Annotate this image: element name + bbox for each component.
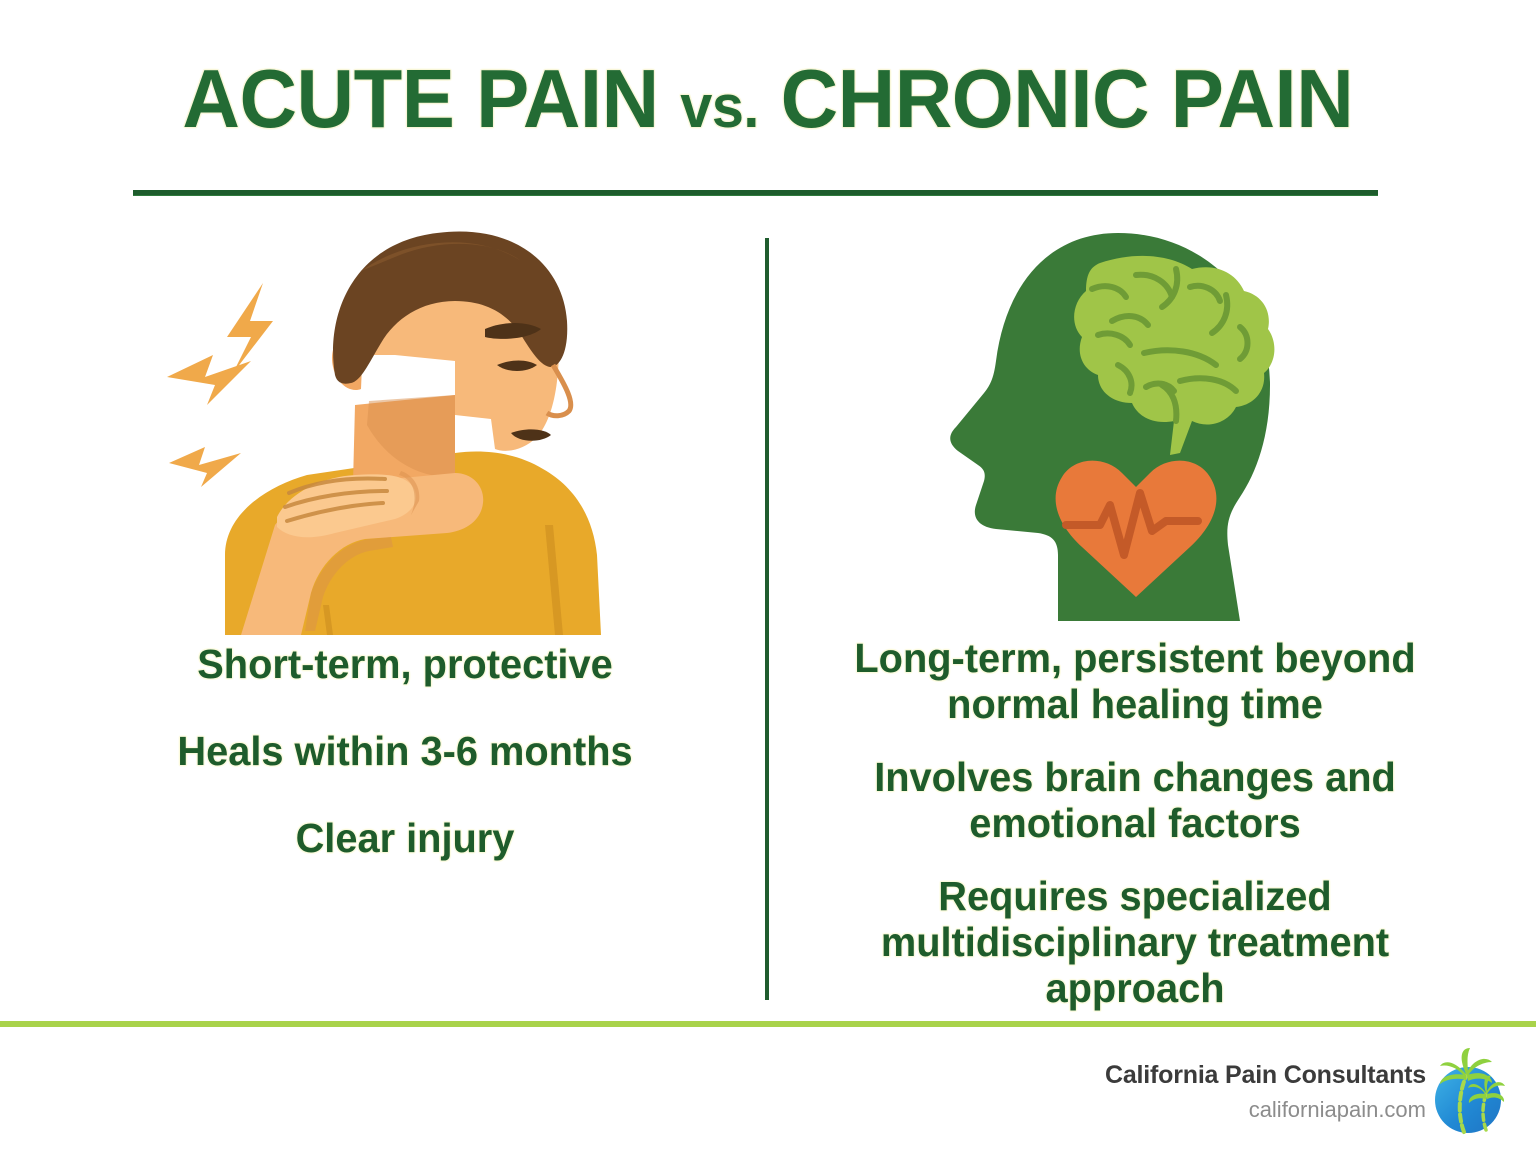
chronic-illustration-wrap bbox=[790, 225, 1480, 635]
fact-item: Long-term, persistent beyond normal heal… bbox=[800, 635, 1469, 727]
fact-item: Clear injury bbox=[70, 815, 739, 862]
head-silhouette-with-brain-and-heart-illustration bbox=[940, 225, 1300, 625]
title-part-chronic: CHRONIC PAIN bbox=[759, 52, 1353, 145]
column-acute-pain: Short-term, protective Heals within 3-6 … bbox=[60, 225, 750, 902]
footer-branding: California Pain Consultants californiapa… bbox=[1105, 1060, 1426, 1125]
title-underline-rule bbox=[133, 190, 1378, 195]
title-part-acute: ACUTE PAIN bbox=[183, 52, 681, 145]
pain-lightning-bolts-icon bbox=[167, 283, 273, 487]
page-title-text: ACUTE PAIN vs. CHRONIC PAIN bbox=[183, 56, 1354, 150]
fact-item: Requires specialized multidisciplinary t… bbox=[800, 873, 1469, 1011]
globe-with-palm-trees-logo bbox=[1428, 1048, 1508, 1138]
brand-url[interactable]: californiapain.com bbox=[1105, 1095, 1426, 1125]
title-part-vs: vs. bbox=[680, 73, 759, 140]
footer-divider-rule bbox=[0, 1021, 1536, 1027]
page-title: ACUTE PAIN vs. CHRONIC PAIN bbox=[0, 56, 1536, 150]
man-holding-shoulder-in-pain-illustration bbox=[155, 225, 675, 635]
fact-item: Short-term, protective bbox=[70, 641, 739, 688]
acute-illustration-wrap bbox=[60, 225, 750, 635]
fact-item: Involves brain changes and emotional fac… bbox=[800, 754, 1469, 846]
brand-name: California Pain Consultants bbox=[1105, 1060, 1426, 1090]
acute-facts-list: Short-term, protective Heals within 3-6 … bbox=[60, 641, 750, 862]
footer: California Pain Consultants californiapa… bbox=[0, 1040, 1536, 1150]
column-divider bbox=[765, 238, 769, 1000]
column-chronic-pain: Long-term, persistent beyond normal heal… bbox=[790, 225, 1480, 1038]
chronic-facts-list: Long-term, persistent beyond normal heal… bbox=[790, 635, 1480, 1011]
fact-item: Heals within 3-6 months bbox=[70, 728, 739, 775]
